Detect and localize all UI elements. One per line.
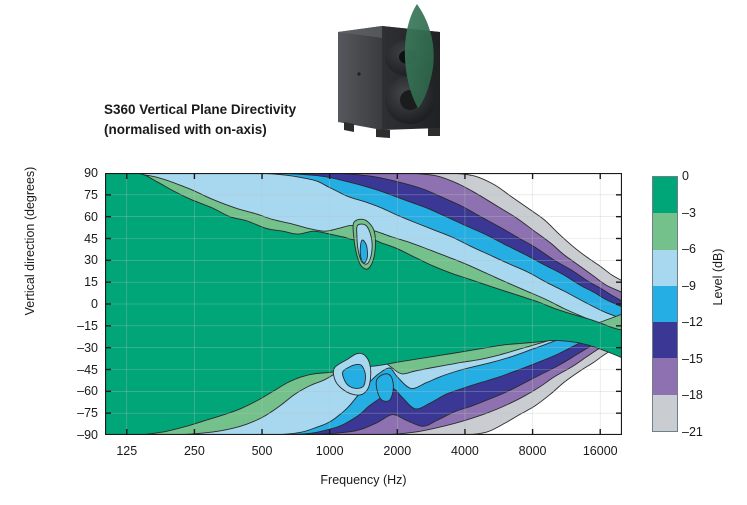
directivity-contour-plot: [105, 173, 622, 435]
colorbar-segment: [653, 286, 677, 322]
y-tick--30: –30: [77, 341, 98, 355]
x-tick-500: 500: [252, 444, 273, 458]
contour-svg: [105, 173, 622, 435]
y-tick--90: –90: [77, 428, 98, 442]
speaker-illustration: [332, 2, 458, 150]
colorbar-tick--9: –9: [682, 279, 696, 293]
x-axis-tick-labels: 125250500100020004000800016000: [105, 444, 622, 462]
y-tick-30: 30: [84, 253, 98, 267]
chart-title: S360 Vertical Plane Directivity (normali…: [104, 100, 354, 140]
colorbar-tick--15: –15: [682, 352, 703, 366]
colorbar-tick--18: –18: [682, 388, 703, 402]
x-tick-250: 250: [184, 444, 205, 458]
figure-root: S360 Vertical Plane Directivity (normali…: [0, 0, 747, 505]
colorbar-segment: [653, 250, 677, 286]
colorbar-segment: [653, 358, 677, 394]
x-tick-4000: 4000: [451, 444, 479, 458]
y-tick-0: 0: [91, 297, 98, 311]
y-tick-75: 75: [84, 188, 98, 202]
x-tick-16000: 16000: [583, 444, 618, 458]
colorbar-segment: [653, 213, 677, 249]
y-tick--45: –45: [77, 363, 98, 377]
colorbar-tick--21: –21: [682, 425, 703, 439]
colorbar-tick-0: 0: [682, 169, 689, 183]
x-tick-1000: 1000: [316, 444, 344, 458]
studio-monitor-speaker-image: [332, 2, 458, 150]
colorbar-tick--12: –12: [682, 315, 703, 329]
y-tick-60: 60: [84, 210, 98, 224]
colorbar-tick--3: –3: [682, 206, 696, 220]
x-tick-8000: 8000: [519, 444, 547, 458]
x-tick-125: 125: [116, 444, 137, 458]
y-tick--60: –60: [77, 384, 98, 398]
y-tick-15: 15: [84, 275, 98, 289]
y-axis-tick-labels: 9075604530150–15–30–45–60–75–90: [44, 173, 98, 435]
colorbar-segment: [653, 177, 677, 213]
x-tick-2000: 2000: [383, 444, 411, 458]
chart-title-line-1: S360 Vertical Plane Directivity: [104, 100, 354, 120]
y-tick--75: –75: [77, 406, 98, 420]
colorbar-tick--6: –6: [682, 242, 696, 256]
colorbar-segment: [653, 322, 677, 358]
y-tick-90: 90: [84, 166, 98, 180]
x-axis-title: Frequency (Hz): [105, 473, 622, 487]
colorbar-segment: [653, 395, 677, 431]
level-colorbar: [652, 176, 678, 432]
y-axis-title: Vertical direction (degrees): [23, 141, 37, 341]
y-tick-45: 45: [84, 232, 98, 246]
y-tick--15: –15: [77, 319, 98, 333]
colorbar-title: Level (dB): [711, 207, 725, 347]
chart-title-line-2: (normalised with on-axis): [104, 120, 354, 140]
